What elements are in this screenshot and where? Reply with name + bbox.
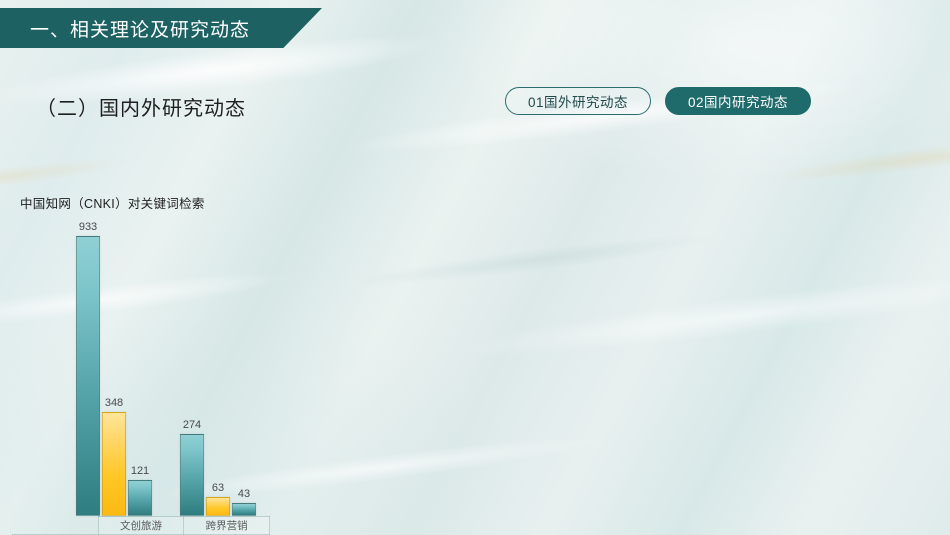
chart-data-table: 文创旅游 跨界营销 期刊 933 274 博硕士论文 348 63 报纸 [12,516,270,535]
chart-data-col-kuajie: 跨界营销 [184,517,270,535]
bar-journal-wenchuang: 933 [76,236,100,516]
nav-pill-domestic[interactable]: 02国内研究动态 [665,87,811,115]
chart-plot-area: 933 348 121 274 63 43 [12,216,270,516]
bar-group-kuajie: 274 63 43 [180,216,256,516]
bar-value-label: 933 [79,221,97,233]
slide-canvas: 一、相关理论及研究动态 （二）国内外研究动态 01国外研究动态 02国内研究动态… [0,0,950,535]
chart-data-corner-cell [13,517,99,535]
bar-newspaper-wenchuang: 121 [128,480,152,516]
chart-data-col-wenchuang: 文创旅游 [98,517,184,535]
bar-journal-kuajie: 274 [180,434,204,516]
chart-data-header-row: 文创旅游 跨界营销 [13,517,270,535]
cnki-bar-chart: 中国知网（CNKI）对关键词检索 933 348 121 274 63 [12,193,270,535]
bar-newspaper-kuajie: 43 [232,503,256,516]
bar-value-label: 121 [131,465,149,477]
bar-group-wenchuang: 933 348 121 [76,216,152,516]
bar-value-label: 63 [212,482,224,494]
chart-title: 中国知网（CNKI）对关键词检索 [12,193,270,212]
nav-pill-group: 01国外研究动态 02国内研究动态 [505,87,950,115]
section-banner-label: 一、相关理论及研究动态 [0,15,250,42]
section-banner: 一、相关理论及研究动态 [0,8,322,48]
bar-value-label: 274 [183,419,201,431]
bar-thesis-wenchuang: 348 [102,412,126,516]
nav-pill-foreign[interactable]: 01国外研究动态 [505,87,651,115]
bar-value-label: 348 [105,397,123,409]
bar-thesis-kuajie: 63 [206,497,230,516]
bar-value-label: 43 [238,488,250,500]
